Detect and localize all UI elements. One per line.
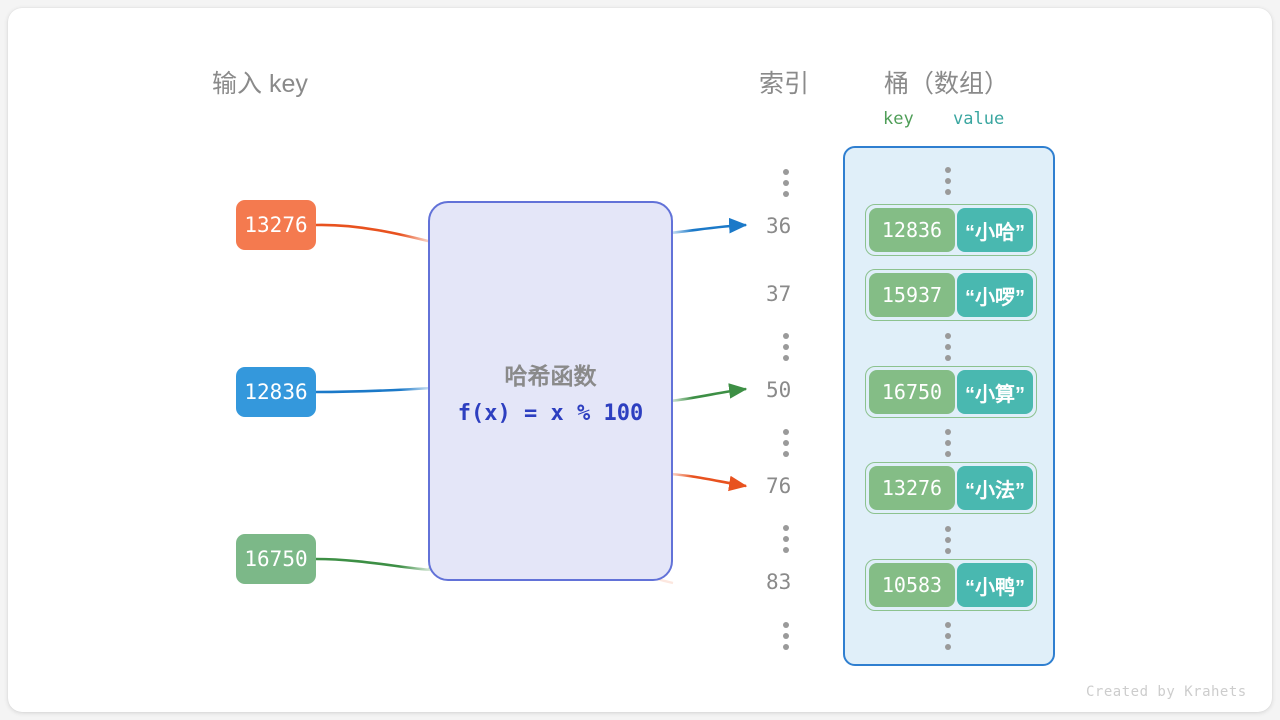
index-dots — [783, 333, 789, 361]
credit-text: Created by Krahets — [1086, 684, 1247, 700]
header-key: key — [883, 109, 914, 129]
diagram-canvas: 输入 key 索引 桶（数组） key value — [0, 0, 1280, 720]
bucket-entry[interactable]: 16750 “小算” — [865, 366, 1037, 418]
entry-value: “小算” — [957, 370, 1033, 414]
entry-key: 10583 — [869, 563, 955, 607]
index-dots — [783, 622, 789, 650]
wire-13276-in — [316, 225, 432, 242]
header-index: 索引 — [759, 64, 809, 100]
index-label-76: 76 — [766, 474, 818, 498]
entry-key: 15937 — [869, 273, 955, 317]
index-label-37: 37 — [766, 282, 818, 306]
header-input-key: 输入 key — [212, 64, 308, 100]
header-value: value — [953, 109, 1004, 129]
diagram-card: 输入 key 索引 桶（数组） key value — [8, 8, 1272, 712]
index-dots — [783, 169, 789, 197]
bucket-dots — [945, 167, 951, 195]
input-key-16750[interactable]: 16750 — [236, 534, 316, 584]
input-key-13276[interactable]: 13276 — [236, 200, 316, 250]
hash-function-title: 哈希函数 — [430, 357, 671, 391]
bucket-dots — [945, 333, 951, 361]
wire-12836-in — [316, 388, 432, 392]
wire-16750-in — [316, 559, 432, 570]
bucket-entry[interactable]: 10583 “小鸭” — [865, 559, 1037, 611]
bucket-entry[interactable]: 12836 “小哈” — [865, 204, 1037, 256]
entry-key: 13276 — [869, 466, 955, 510]
entry-value: “小鸭” — [957, 563, 1033, 607]
wire-to-index-50 — [670, 389, 746, 401]
bucket-entry[interactable]: 13276 “小法” — [865, 462, 1037, 514]
bucket-dots — [945, 622, 951, 650]
hash-function-box: 哈希函数 f(x) = x % 100 — [428, 201, 673, 581]
entry-value: “小哈” — [957, 208, 1033, 252]
index-label-36: 36 — [766, 214, 818, 238]
wire-to-index-76 — [670, 474, 746, 486]
index-label-83: 83 — [766, 570, 818, 594]
entry-value: “小啰” — [957, 273, 1033, 317]
wire-to-index-36 — [670, 225, 746, 233]
hash-function-formula: f(x) = x % 100 — [430, 401, 671, 426]
input-key-12836[interactable]: 12836 — [236, 367, 316, 417]
index-dots — [783, 525, 789, 553]
header-bucket-array: 桶（数组） — [884, 64, 1009, 100]
bucket-dots — [945, 526, 951, 554]
entry-key: 12836 — [869, 208, 955, 252]
index-label-50: 50 — [766, 378, 818, 402]
entry-key: 16750 — [869, 370, 955, 414]
bucket-entry[interactable]: 15937 “小啰” — [865, 269, 1037, 321]
bucket-array: 12836 “小哈” 15937 “小啰” 16750 “小算” 13276 “… — [843, 146, 1055, 666]
bucket-dots — [945, 429, 951, 457]
entry-value: “小法” — [957, 466, 1033, 510]
index-dots — [783, 429, 789, 457]
